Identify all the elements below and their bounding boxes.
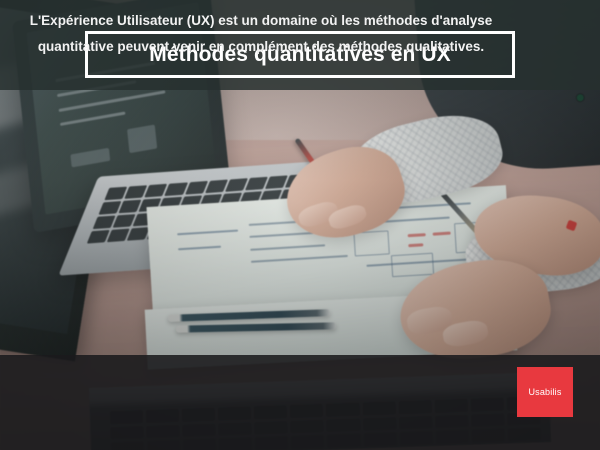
ux-infographic-card: Méthodes quantitatives en UX L'Expérienc… [0,0,600,450]
caption-line-2: quantitative peuvent venir en complément… [18,34,504,60]
caption-text: L'Expérience Utilisateur (UX) est un dom… [18,8,504,61]
caption-band [0,355,600,450]
usabilis-logo-badge[interactable]: Usabilis [517,367,573,417]
caption-line-1: L'Expérience Utilisateur (UX) est un dom… [18,8,504,34]
usabilis-logo-text: Usabilis [528,387,561,397]
